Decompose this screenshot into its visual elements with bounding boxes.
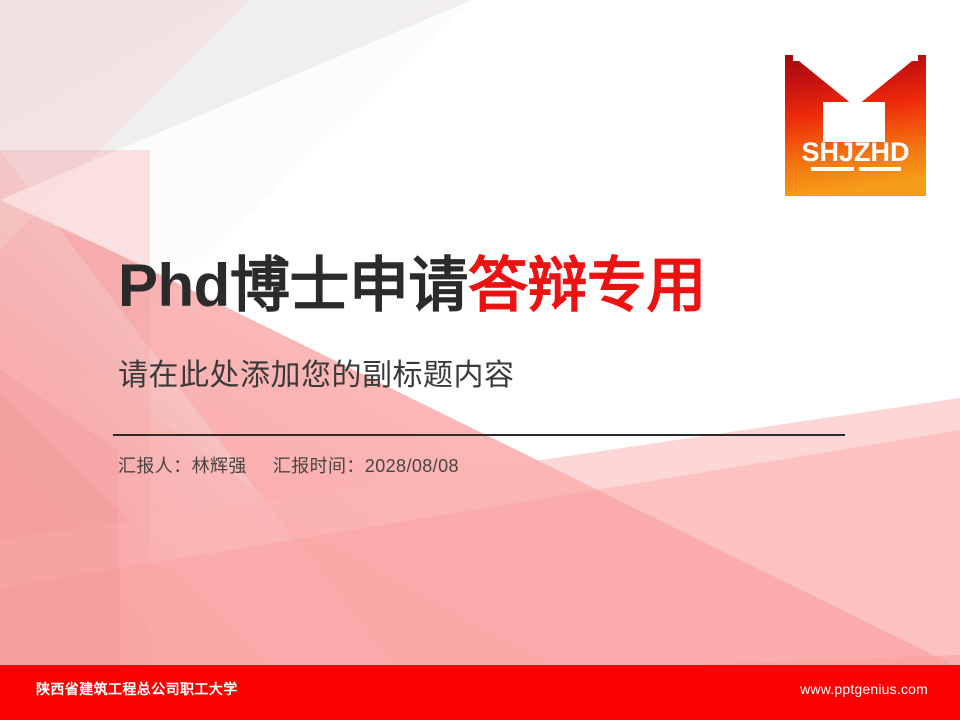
presenter-info: 汇报人：林辉强: [118, 456, 247, 476]
presentation-slide: SHJZHD Phd博士申请答辩专用 请在此处添加您的副标题内容 汇报人：林辉强…: [0, 0, 960, 720]
title-divider: [113, 434, 845, 436]
slide-title-accent: 答辩专用: [468, 252, 706, 319]
company-logo: SHJZHD: [785, 55, 926, 196]
footer-organization: 陕西省建筑工程总公司职工大学: [36, 679, 238, 699]
report-date-info: 汇报时间：2028/08/08: [273, 456, 459, 476]
slide-subtitle: 请在此处添加您的副标题内容: [118, 350, 515, 394]
logo-mark-icon: [785, 55, 926, 196]
slide-meta: 汇报人：林辉强汇报时间：2028/08/08: [118, 452, 459, 478]
logo-wordmark: SHJZHD: [785, 139, 926, 166]
footer-website[interactable]: www.pptgenius.com: [800, 681, 928, 697]
slide-title: Phd博士申请答辩专用: [118, 252, 706, 319]
slide-title-primary: Phd博士申请: [118, 252, 468, 319]
